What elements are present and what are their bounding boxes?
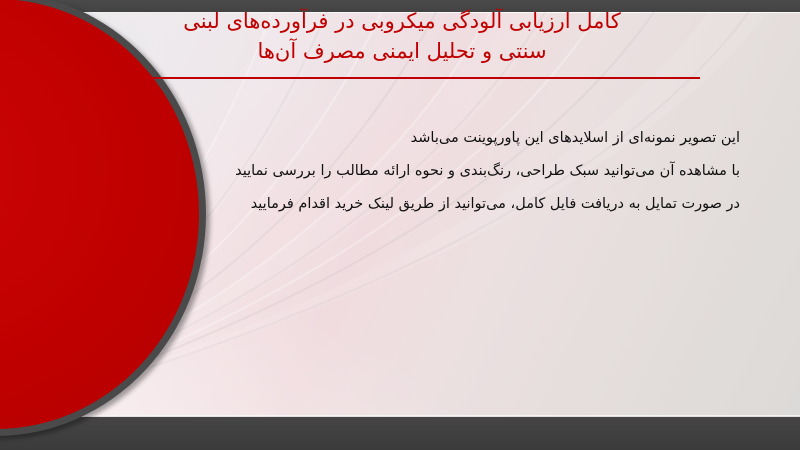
body-line-1: این تصویر نمونه‌ای از اسلایدهای این پاور…: [100, 122, 740, 155]
presentation-slide: کامل ارزیابی آلودگی میکروبی در فرآورده‌ه…: [0, 0, 800, 450]
body-line-3: در صورت تمایل به دریافت فایل کامل، می‌تو…: [100, 188, 740, 221]
title-underline-rule: [135, 77, 700, 79]
slide-body-text: این تصویر نمونه‌ای از اسلایدهای این پاور…: [100, 122, 740, 221]
body-line-2: با مشاهده آن می‌توانید سبک طراحی، رنگ‌بن…: [100, 155, 740, 188]
slide-title: کامل ارزیابی آلودگی میکروبی در فرآورده‌ه…: [100, 6, 704, 66]
slide-title-line-1: کامل ارزیابی آلودگی میکروبی در فرآورده‌ه…: [100, 6, 704, 36]
slide-title-line-2: سنتی و تحلیل ایمنی مصرف آن‌ها: [100, 36, 704, 66]
